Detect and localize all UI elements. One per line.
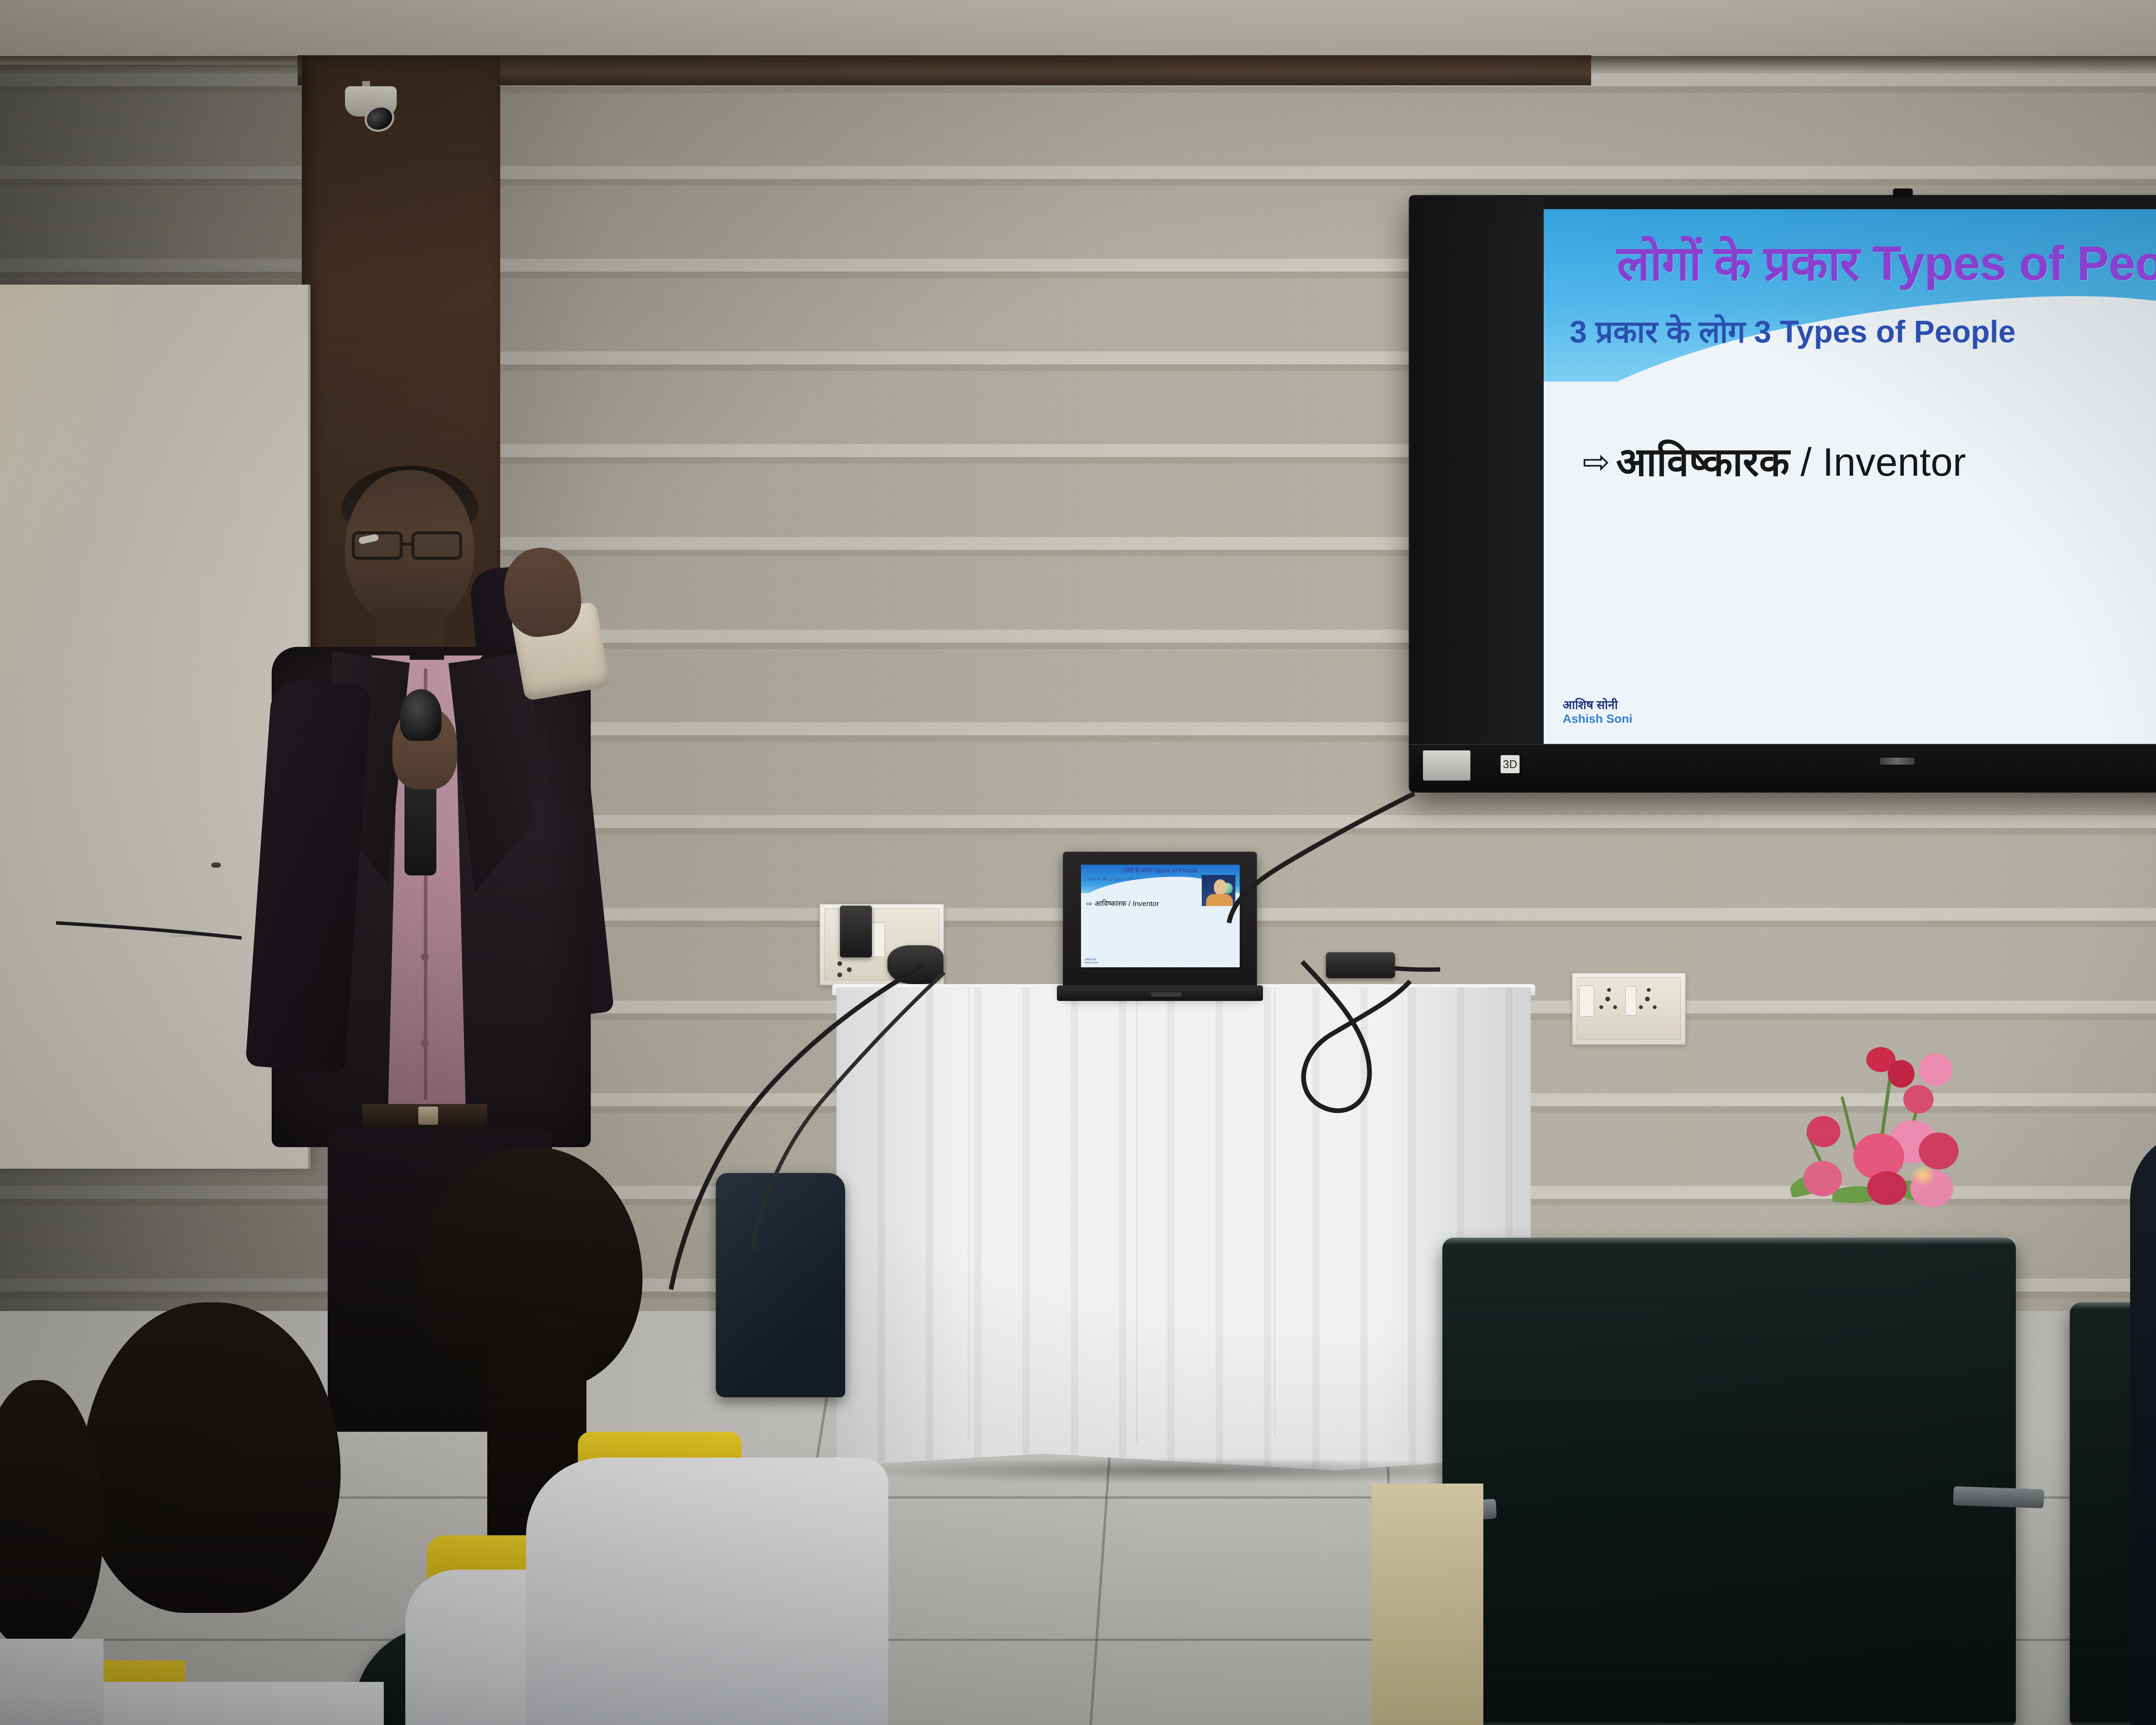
laptop-slide-bullet: ⇨ आविष्कारक / Inventor xyxy=(1086,898,1159,908)
slide-title: लोगों के प्रकार Types of People xyxy=(1617,228,2156,294)
presentation-scene: लोगों के प्रकार Types of People 3 प्रकार… xyxy=(0,0,2156,1725)
display-bottom-bezel: 3D xyxy=(1410,744,2156,791)
flower-bloom xyxy=(1867,1171,1907,1205)
socket-right-plate[interactable] xyxy=(1572,972,1686,1045)
display-3d-badge: 3D xyxy=(1501,755,1520,773)
student-uniform-shirt xyxy=(0,1639,103,1725)
slide-bullet-inventor: ⇨आविष्कारक / Inventor xyxy=(1583,433,1966,487)
audience-student-right xyxy=(526,1432,888,1725)
right-arrow-icon: ⇨ xyxy=(1583,442,1610,481)
socket-pin-hole xyxy=(837,972,842,977)
socket-pin-hole xyxy=(1645,997,1650,1001)
audience-suit-jacket xyxy=(2130,1130,2156,1725)
laptop-screen[interactable]: लोगों के प्रकार Types of People 3 प्रकार… xyxy=(1081,865,1240,967)
socket-pin-hole xyxy=(1639,1005,1643,1009)
laptop-signature-english: Ashish Soni xyxy=(1084,962,1098,965)
socket-right-switch-1[interactable] xyxy=(1579,985,1594,1016)
laptop-trackpad[interactable] xyxy=(1151,992,1181,997)
socket-pin-hole xyxy=(1613,1005,1617,1009)
backpack-under-table[interactable] xyxy=(716,1173,845,1397)
eyeglasses-bridge xyxy=(403,543,413,546)
display-brand-sticker xyxy=(1423,750,1470,781)
display-mount xyxy=(1893,188,1913,198)
student-uniform-shirt xyxy=(56,1682,384,1725)
display-bezel-left xyxy=(1410,196,1544,757)
signature-hindi: आशिष सोनी xyxy=(1563,698,1633,712)
flower-bloom xyxy=(1919,1132,1959,1170)
laptop-slide-title: लोगों के प्रकार Types of People xyxy=(1081,865,1240,875)
student-head xyxy=(82,1302,341,1613)
slide-header-band: लोगों के प्रकार Types of People 3 प्रकार… xyxy=(1544,209,2156,382)
wall-mounted-display[interactable]: लोगों के प्रकार Types of People 3 प्रकार… xyxy=(1410,196,2156,791)
socket-pin-hole xyxy=(1653,1005,1657,1009)
shirt-button xyxy=(421,1039,429,1047)
audience-student-far-left xyxy=(0,1380,103,1725)
socket-pin-hole xyxy=(1607,988,1611,992)
chair-center[interactable] xyxy=(1442,1238,2016,1725)
socket-pin-hole xyxy=(1605,997,1610,1001)
display-ir-receiver xyxy=(1880,758,1915,765)
power-adapter[interactable] xyxy=(887,945,943,984)
laptop-portrait-thumb xyxy=(1202,875,1235,906)
flower-bud xyxy=(1888,1060,1915,1088)
laptop-signature-hindi: आशिष सोनी xyxy=(1084,959,1098,962)
cloth-fold xyxy=(1406,988,1409,1427)
power-plug-left[interactable] xyxy=(840,906,872,957)
microphone-head-icon xyxy=(400,689,442,741)
chair-backrest-highlight xyxy=(1442,1238,2016,1245)
flower-bloom xyxy=(1919,1053,1952,1086)
cloth-fold xyxy=(966,988,969,1440)
laptop[interactable]: लोगों के प्रकार Types of People 3 प्रकार… xyxy=(1063,852,1257,994)
flower-bloom xyxy=(1803,1161,1842,1196)
slide-subtitle: 3 प्रकार के लोग 3 Types of People xyxy=(1570,310,2156,352)
flower-highlight xyxy=(1910,1164,1936,1186)
slide-bullet-hindi: आविष्कारक xyxy=(1616,440,1789,484)
table-floor-shadow xyxy=(837,1458,1535,1483)
shirt-button xyxy=(421,953,429,961)
belt-buckle xyxy=(418,1107,438,1125)
presentation-slide: लोगों के प्रकार Types of People 3 प्रकार… xyxy=(1544,209,2156,744)
cloth-fold xyxy=(1272,988,1275,1436)
audience-partial-body xyxy=(1371,1483,1483,1725)
display-screen[interactable]: लोगों के प्रकार Types of People 3 प्रकार… xyxy=(1544,209,2156,744)
cctv-camera xyxy=(341,86,405,134)
socket-pin-hole xyxy=(837,961,842,966)
slide-bullet-english: Inventor xyxy=(1823,440,1966,484)
student-head xyxy=(0,1380,103,1647)
socket-pin-hole xyxy=(1599,1005,1603,1009)
flower-bloom xyxy=(1903,1085,1934,1113)
cloth-fold xyxy=(1134,988,1138,1445)
audience-partial-right xyxy=(1371,1483,1483,1725)
slide-body: ⇨आविष्कारक / Inventor xyxy=(1544,382,2156,744)
table-with-white-cloth xyxy=(837,988,1531,1471)
audience-seated-man xyxy=(2022,888,2156,1725)
signature-english: Ashish Soni xyxy=(1563,712,1633,726)
audience-student-left xyxy=(56,1302,384,1725)
laptop-slide-signature: आशिष सोनी Ashish Soni xyxy=(1084,959,1098,965)
laptop-portrait-robe xyxy=(1206,894,1233,906)
flower-bloom xyxy=(1807,1116,1840,1147)
laptop-portrait-head xyxy=(1214,879,1227,895)
wireless-mic-receiver[interactable] xyxy=(1326,952,1395,978)
student-uniform-shirt xyxy=(526,1458,888,1725)
socket-pin-hole xyxy=(847,967,852,972)
eyeglasses-right-lens xyxy=(411,531,462,560)
socket-pin-hole xyxy=(1647,988,1651,992)
slide-signature: आशिष सोनी Ashish Soni xyxy=(1563,698,1633,726)
socket-right-switch-2[interactable] xyxy=(1625,986,1636,1016)
slide-bullet-separator: / xyxy=(1801,440,1812,484)
flower-bouquet xyxy=(1781,1044,1984,1238)
